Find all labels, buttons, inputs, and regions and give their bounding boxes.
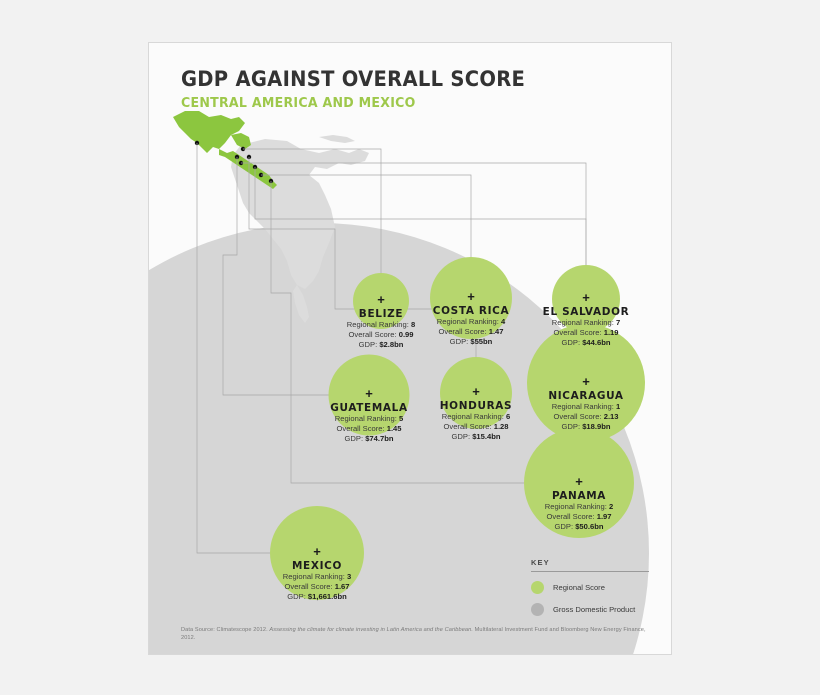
page-subtitle: CENTRAL AMERICA AND MEXICO — [181, 95, 525, 111]
country-ranking: Regional Ranking: 3 — [283, 572, 351, 582]
legend-label: Regional Score — [553, 583, 605, 592]
legend-title: KEY — [531, 558, 649, 572]
country-score: Overall Score: 2.13 — [546, 412, 625, 422]
source-italic: Assessing the climate for climate invest… — [269, 627, 473, 633]
country-ranking: Regional Ranking: 1 — [546, 402, 625, 412]
country-gdp: GDP: $2.8bn — [347, 340, 415, 350]
leader-line-el-salvador — [241, 163, 586, 299]
legend: KEY Regional Score Gross Domestic Produc… — [531, 558, 649, 616]
marker-cross-belize: + — [377, 295, 385, 304]
legend-label: Gross Domestic Product — [553, 605, 635, 614]
title-block: GDP AGAINST OVERALL SCORE CENTRAL AMERIC… — [181, 67, 551, 111]
country-label-el-salvador: + EL SALVADOR Regional Ranking: 7 Overal… — [540, 293, 631, 348]
country-score: Overall Score: 1.97 — [545, 512, 613, 522]
country-ranking: Regional Ranking: 6 — [438, 412, 514, 422]
marker-cross-panama: + — [575, 477, 583, 486]
leader-line-mexico — [197, 143, 317, 553]
legend-item-regional-score: Regional Score — [531, 581, 649, 594]
country-score: Overall Score: 1.19 — [540, 328, 631, 338]
country-gdp: GDP: $1,661.6bn — [283, 592, 351, 602]
country-label-nicaragua: + NICARAGUA Regional Ranking: 1 Overall … — [546, 377, 625, 432]
marker-cross-nicaragua: + — [582, 377, 590, 386]
country-label-costa-rica: + COSTA RICA Regional Ranking: 4 Overall… — [431, 292, 512, 347]
country-name: HONDURAS — [440, 399, 513, 412]
country-gdp: GDP: $44.6bn — [540, 338, 631, 348]
source-lead: Data Source: Climatescope 2012. — [181, 627, 269, 633]
country-name: EL SALVADOR — [543, 305, 630, 318]
country-name: PANAMA — [547, 489, 612, 502]
country-label-guatemala: + GUATEMALA Regional Ranking: 5 Overall … — [328, 389, 410, 444]
leader-line-belize — [243, 149, 381, 301]
page-title: GDP AGAINST OVERALL SCORE — [181, 67, 525, 91]
country-score: Overall Score: 1.47 — [431, 327, 512, 337]
country-label-mexico: + MEXICO Regional Ranking: 3 Overall Sco… — [283, 547, 351, 602]
legend-swatch-gdp-icon — [531, 603, 544, 616]
source-note: Data Source: Climatescope 2012. Assessin… — [181, 626, 651, 642]
country-ranking: Regional Ranking: 8 — [347, 320, 415, 330]
country-name: GUATEMALA — [330, 401, 408, 414]
country-score: Overall Score: 1.28 — [438, 422, 514, 432]
country-score: Overall Score: 1.45 — [328, 424, 410, 434]
marker-cross-guatemala: + — [365, 389, 373, 398]
infographic-card: + BELIZE Regional Ranking: 8 Overall Sco… — [148, 42, 672, 655]
country-ranking: Regional Ranking: 5 — [328, 414, 410, 424]
country-gdp: GDP: $18.9bn — [546, 422, 625, 432]
country-ranking: Regional Ranking: 2 — [545, 502, 613, 512]
country-gdp: GDP: $74.7bn — [328, 434, 410, 444]
legend-swatch-regional-score-icon — [531, 581, 544, 594]
country-name: BELIZE — [349, 307, 414, 320]
country-label-panama: + PANAMA Regional Ranking: 2 Overall Sco… — [545, 477, 613, 532]
country-score: Overall Score: 0.99 — [347, 330, 415, 340]
leader-line-panama — [271, 181, 579, 483]
marker-cross-el-salvador: + — [582, 293, 590, 302]
country-score: Overall Score: 1.67 — [283, 582, 351, 592]
country-name: MEXICO — [285, 559, 350, 572]
marker-cross-costa-rica: + — [467, 292, 475, 301]
country-label-belize: + BELIZE Regional Ranking: 8 Overall Sco… — [347, 295, 415, 350]
legend-item-gross-domestic-product: Gross Domestic Product — [531, 603, 649, 616]
marker-cross-mexico: + — [313, 547, 321, 556]
country-ranking: Regional Ranking: 4 — [431, 317, 512, 327]
country-name: COSTA RICA — [433, 304, 509, 317]
marker-cross-honduras: + — [472, 387, 480, 396]
country-gdp: GDP: $50.6bn — [545, 522, 613, 532]
leader-line-guatemala — [223, 157, 369, 395]
country-name: NICARAGUA — [548, 389, 623, 402]
country-ranking: Regional Ranking: 7 — [540, 318, 631, 328]
country-gdp: GDP: $55bn — [431, 337, 512, 347]
country-gdp: GDP: $15.4bn — [438, 432, 514, 442]
infographic-root: + BELIZE Regional Ranking: 8 Overall Sco… — [0, 0, 820, 695]
country-label-honduras: + HONDURAS Regional Ranking: 6 Overall S… — [438, 387, 514, 442]
